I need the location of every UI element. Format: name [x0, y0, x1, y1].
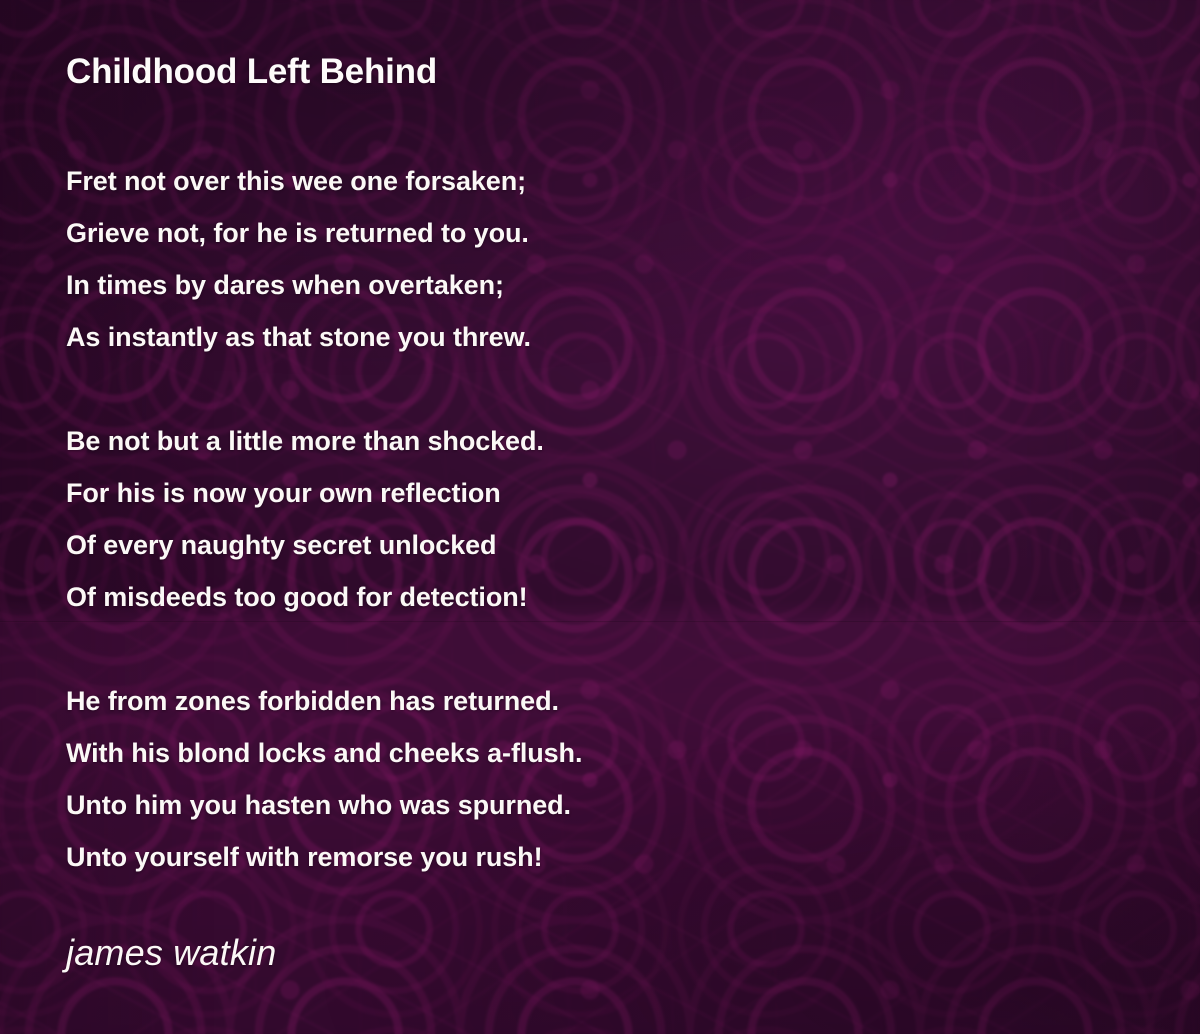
- poem-author-signature: james watkin: [66, 932, 276, 974]
- poem-title: Childhood Left Behind: [66, 52, 437, 92]
- poem-line: Of misdeeds too good for detection!: [66, 571, 1146, 623]
- poem-line: Of every naughty secret unlocked: [66, 519, 1146, 571]
- poem-line: Unto yourself with remorse you rush!: [66, 831, 1146, 883]
- poem-line: Fret not over this wee one forsaken;: [66, 155, 1146, 207]
- poem-stanza: He from zones forbidden has returned. Wi…: [66, 675, 1146, 883]
- poem-body: Fret not over this wee one forsaken; Gri…: [66, 155, 1146, 883]
- poem-card: Childhood Left Behind Fret not over this…: [0, 0, 1200, 1034]
- poem-content: Childhood Left Behind Fret not over this…: [66, 0, 1146, 1034]
- poem-stanza: Be not but a little more than shocked. F…: [66, 415, 1146, 623]
- poem-line: He from zones forbidden has returned.: [66, 675, 1146, 727]
- poem-line: With his blond locks and cheeks a-flush.: [66, 727, 1146, 779]
- poem-stanza: Fret not over this wee one forsaken; Gri…: [66, 155, 1146, 363]
- poem-line: As instantly as that stone you threw.: [66, 311, 1146, 363]
- poem-line: In times by dares when overtaken;: [66, 259, 1146, 311]
- poem-line: Unto him you hasten who was spurned.: [66, 779, 1146, 831]
- poem-line: Grieve not, for he is returned to you.: [66, 207, 1146, 259]
- poem-line: For his is now your own reflection: [66, 467, 1146, 519]
- poem-line: Be not but a little more than shocked.: [66, 415, 1146, 467]
